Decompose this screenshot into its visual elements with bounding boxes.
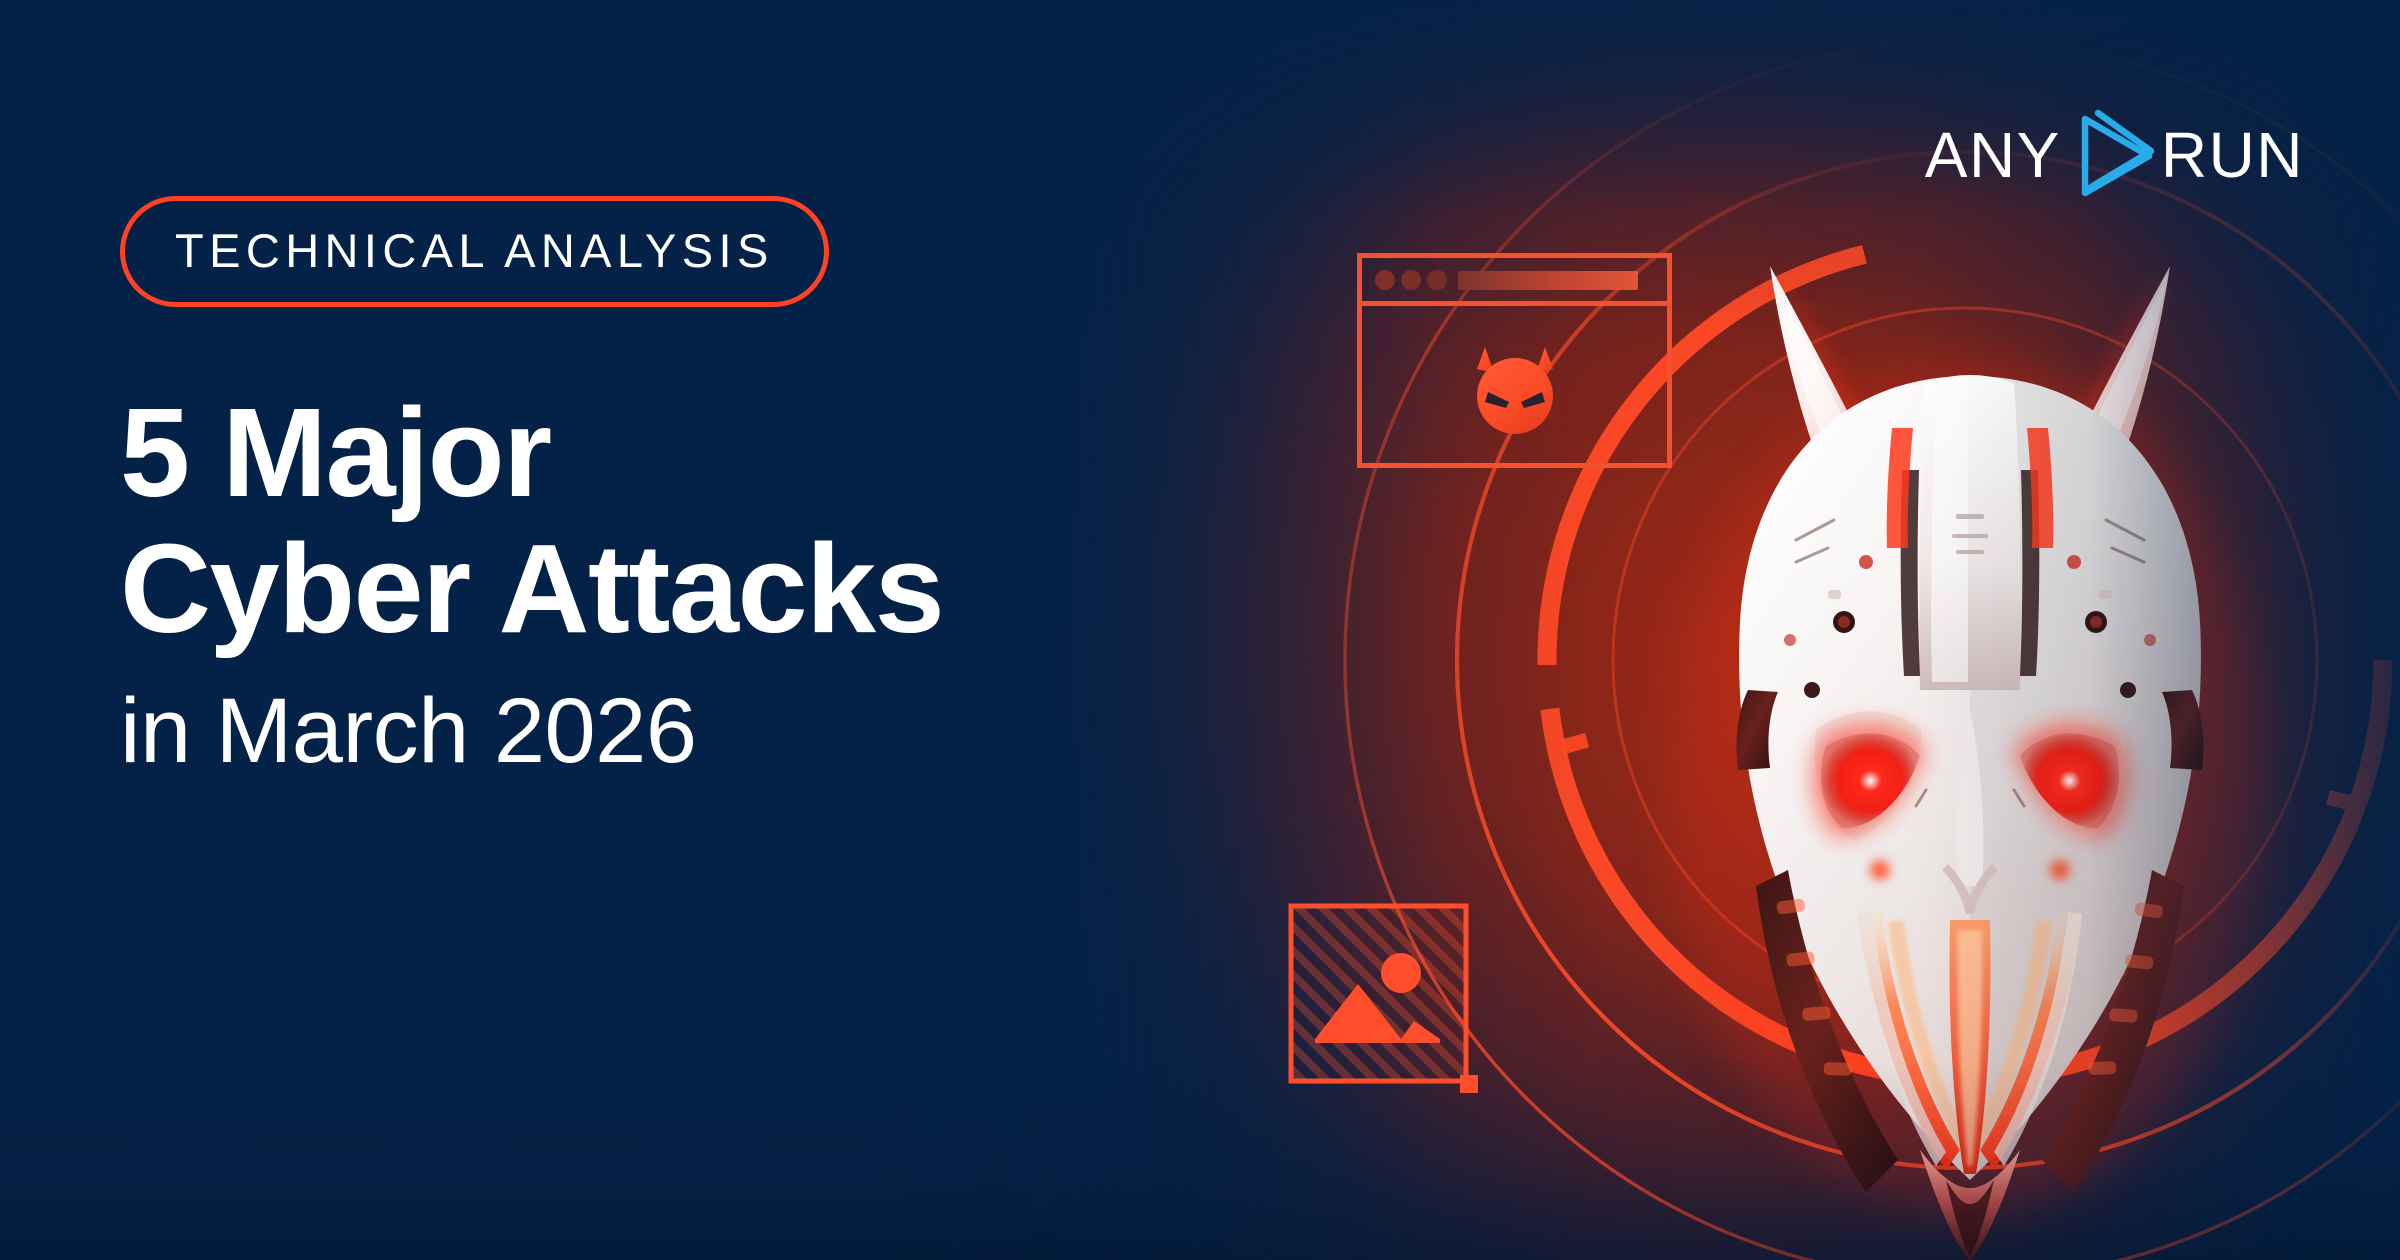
headline-line-1: 5 Major [120, 385, 1370, 521]
malicious-browser-window-icon [1357, 253, 1672, 468]
headline-line-2: Cyber Attacks [120, 521, 1370, 657]
badge-label: TECHNICAL ANALYSIS [175, 227, 774, 274]
banner-root: TECHNICAL ANALYSIS 5 Major Cyber Attacks… [0, 0, 2400, 1260]
any-run-logo[interactable]: ANY RUN [1925, 116, 2304, 194]
technical-analysis-badge[interactable]: TECHNICAL ANALYSIS [120, 196, 829, 307]
image-placeholder-icon [1288, 903, 1498, 1115]
headline-line-3: in March 2026 [120, 683, 1370, 780]
hero-content: TECHNICAL ANALYSIS 5 Major Cyber Attacks… [120, 196, 1370, 780]
any-run-play-logo-icon [2065, 107, 2157, 203]
page-title: 5 Major Cyber Attacks in March 2026 [120, 385, 1370, 780]
logo-word-any: ANY [1925, 123, 2061, 187]
logo-word-run: RUN [2161, 123, 2304, 187]
